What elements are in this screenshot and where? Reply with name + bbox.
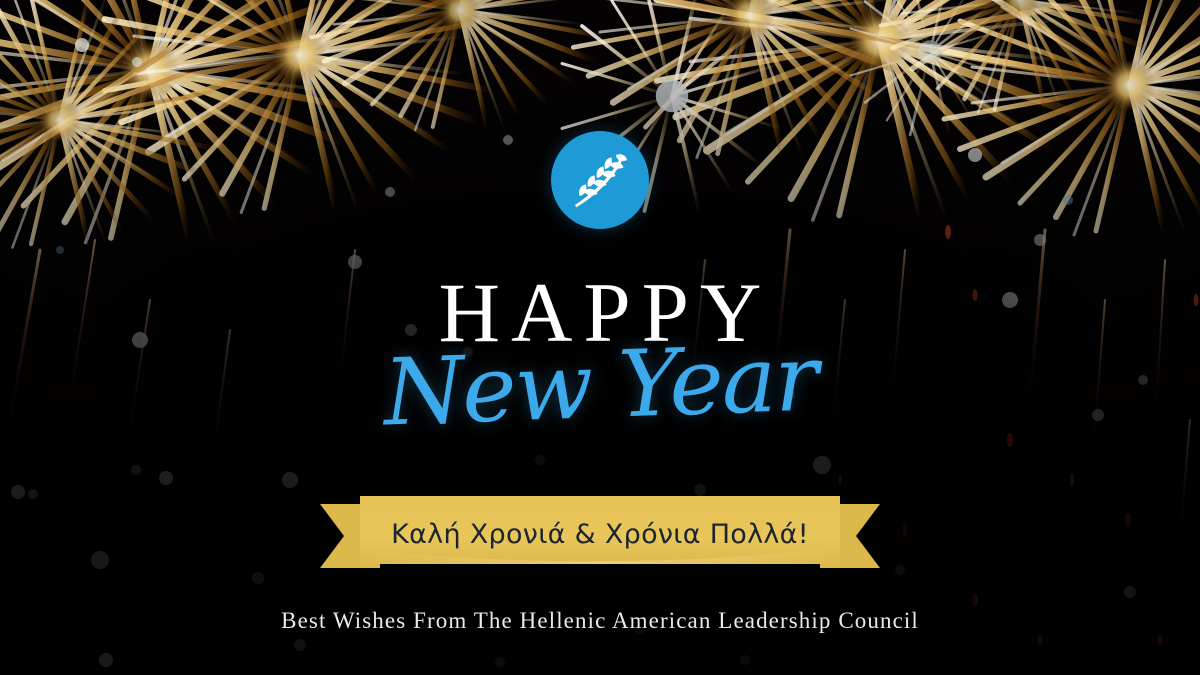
logo-circle — [551, 131, 649, 229]
greeting-ribbon: Καλή Χρονιά & Χρόνια Πολλά! — [320, 496, 880, 576]
new-year-greeting-card: HAPPY New Year — [0, 0, 1200, 675]
logo — [551, 131, 649, 229]
card-content: HAPPY New Year — [0, 0, 1200, 675]
footer-credit: Best Wishes From The Hellenic American L… — [0, 608, 1200, 634]
ribbon-label: Καλή Χρονιά & Χρόνια Πολλά! — [320, 496, 880, 576]
olive-branch-icon — [569, 149, 631, 211]
